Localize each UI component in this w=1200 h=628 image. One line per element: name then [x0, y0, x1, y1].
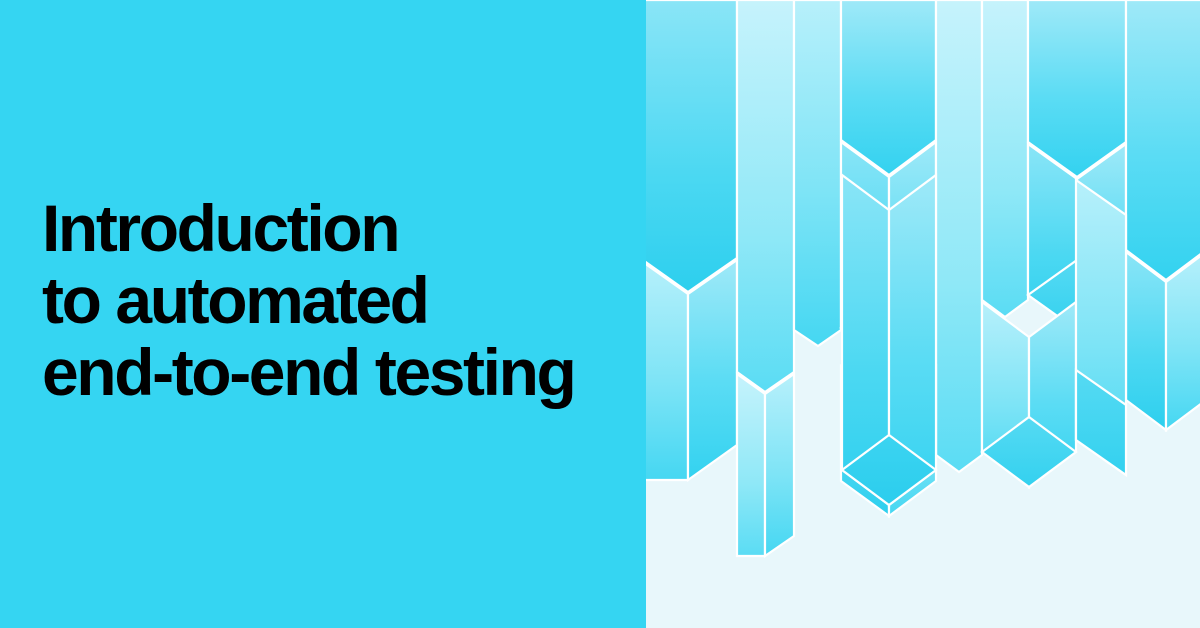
headline-line-3: end-to-end testing [42, 336, 622, 408]
page-title: Introduction to automated end-to-end tes… [42, 192, 622, 408]
headline-line-1: Introduction [42, 192, 622, 264]
isometric-columns-graphic [646, 0, 1200, 628]
headline-line-2: to automated [42, 264, 622, 336]
share-banner: upsun Powered by Platform.sh Introductio… [0, 0, 1200, 628]
